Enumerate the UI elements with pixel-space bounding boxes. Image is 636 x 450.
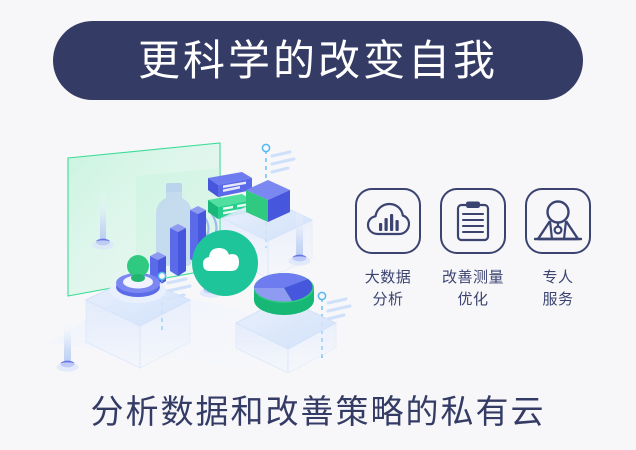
feature-icon-frame [355,188,421,254]
feature-label: 专人 服务 [542,267,573,311]
pie-chart-3d [254,273,314,315]
feature-icon-frame [525,188,591,254]
page-tagline: 分析数据和改善策略的私有云 [0,385,636,433]
banner-canvas: 更科学的改变自我 [0,0,636,450]
feature-label-line2: 分析 [365,289,412,311]
feature-list: 大数据 分析 改善测量 优化 [352,188,594,333]
feature-label-line1: 大数据 [365,267,412,289]
feature-label-line1: 改善测量 [442,267,504,289]
feature-label: 改善测量 优化 [442,267,504,311]
service-person-icon [534,199,582,243]
feature-item-big-data[interactable]: 大数据 分析 [352,188,424,311]
feature-label-line1: 专人 [542,267,573,289]
feature-label: 大数据 分析 [365,267,412,311]
cloud-bar-chart-icon [366,201,410,241]
feature-item-service[interactable]: 专人 服务 [522,188,594,311]
hero-illustration [40,128,360,373]
feature-label-line2: 优化 [442,289,504,311]
feature-label-line2: 服务 [542,289,573,311]
page-title: 更科学的改变自我 [138,40,498,82]
feature-item-measurement[interactable]: 改善测量 优化 [437,188,509,311]
feature-icon-frame [440,188,506,254]
cloud-badge-circle [192,230,258,296]
clipboard-icon [456,200,490,242]
header-title-pill: 更科学的改变自我 [53,21,583,100]
